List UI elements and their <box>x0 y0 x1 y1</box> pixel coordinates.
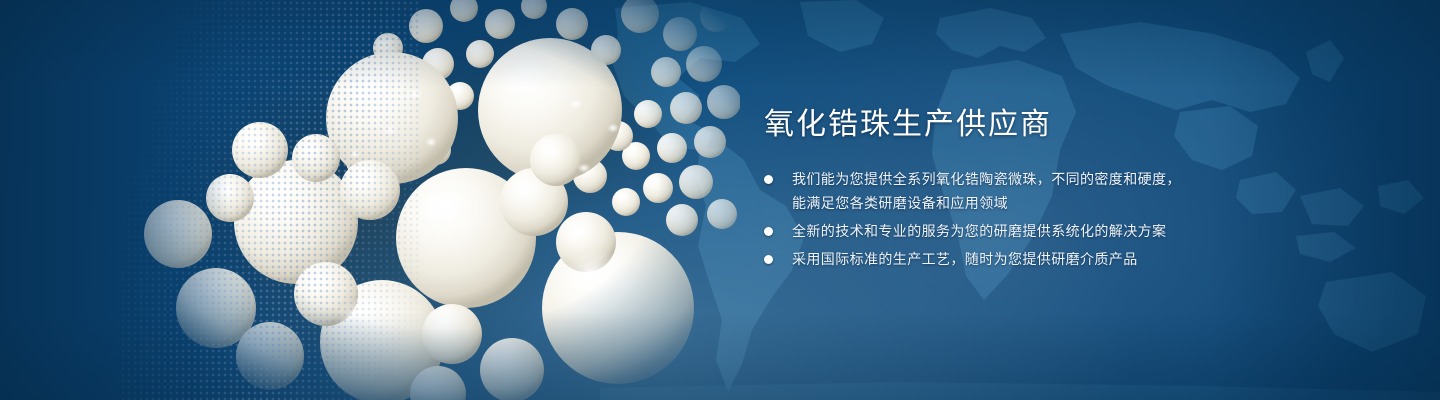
bullet-line-1: 全新的技术和专业的服务为您的研磨提供系统化的解决方案 <box>792 223 1166 239</box>
banner-bullet-list: 我们能为您提供全系列氧化锆陶瓷微珠，不同的密度和硬度， 能满足您各类研磨设备和应… <box>764 167 1364 271</box>
bullet-item: 我们能为您提供全系列氧化锆陶瓷微珠，不同的密度和硬度， 能满足您各类研磨设备和应… <box>764 167 1364 215</box>
bullet-item: 全新的技术和专业的服务为您的研磨提供系统化的解决方案 <box>764 219 1364 243</box>
bullet-dot-icon <box>764 175 773 184</box>
bullet-dot-icon <box>764 227 773 236</box>
bullet-dot-icon <box>764 255 773 264</box>
bullet-line-1: 采用国际标准的生产工艺，随时为您提供研磨介质产品 <box>792 251 1138 267</box>
bullet-item: 采用国际标准的生产工艺，随时为您提供研磨介质产品 <box>764 247 1364 271</box>
banner-copy: 氧化锆珠生产供应商 我们能为您提供全系列氧化锆陶瓷微珠，不同的密度和硬度， 能满… <box>764 105 1364 275</box>
bullet-line-2: 能满足您各类研磨设备和应用领域 <box>792 191 1364 215</box>
bullet-line-1: 我们能为您提供全系列氧化锆陶瓷微珠，不同的密度和硬度， <box>792 171 1181 187</box>
hero-banner: 氧化锆珠生产供应商 我们能为您提供全系列氧化锆陶瓷微珠，不同的密度和硬度， 能满… <box>0 0 1440 400</box>
banner-headline: 氧化锆珠生产供应商 <box>764 105 1364 145</box>
